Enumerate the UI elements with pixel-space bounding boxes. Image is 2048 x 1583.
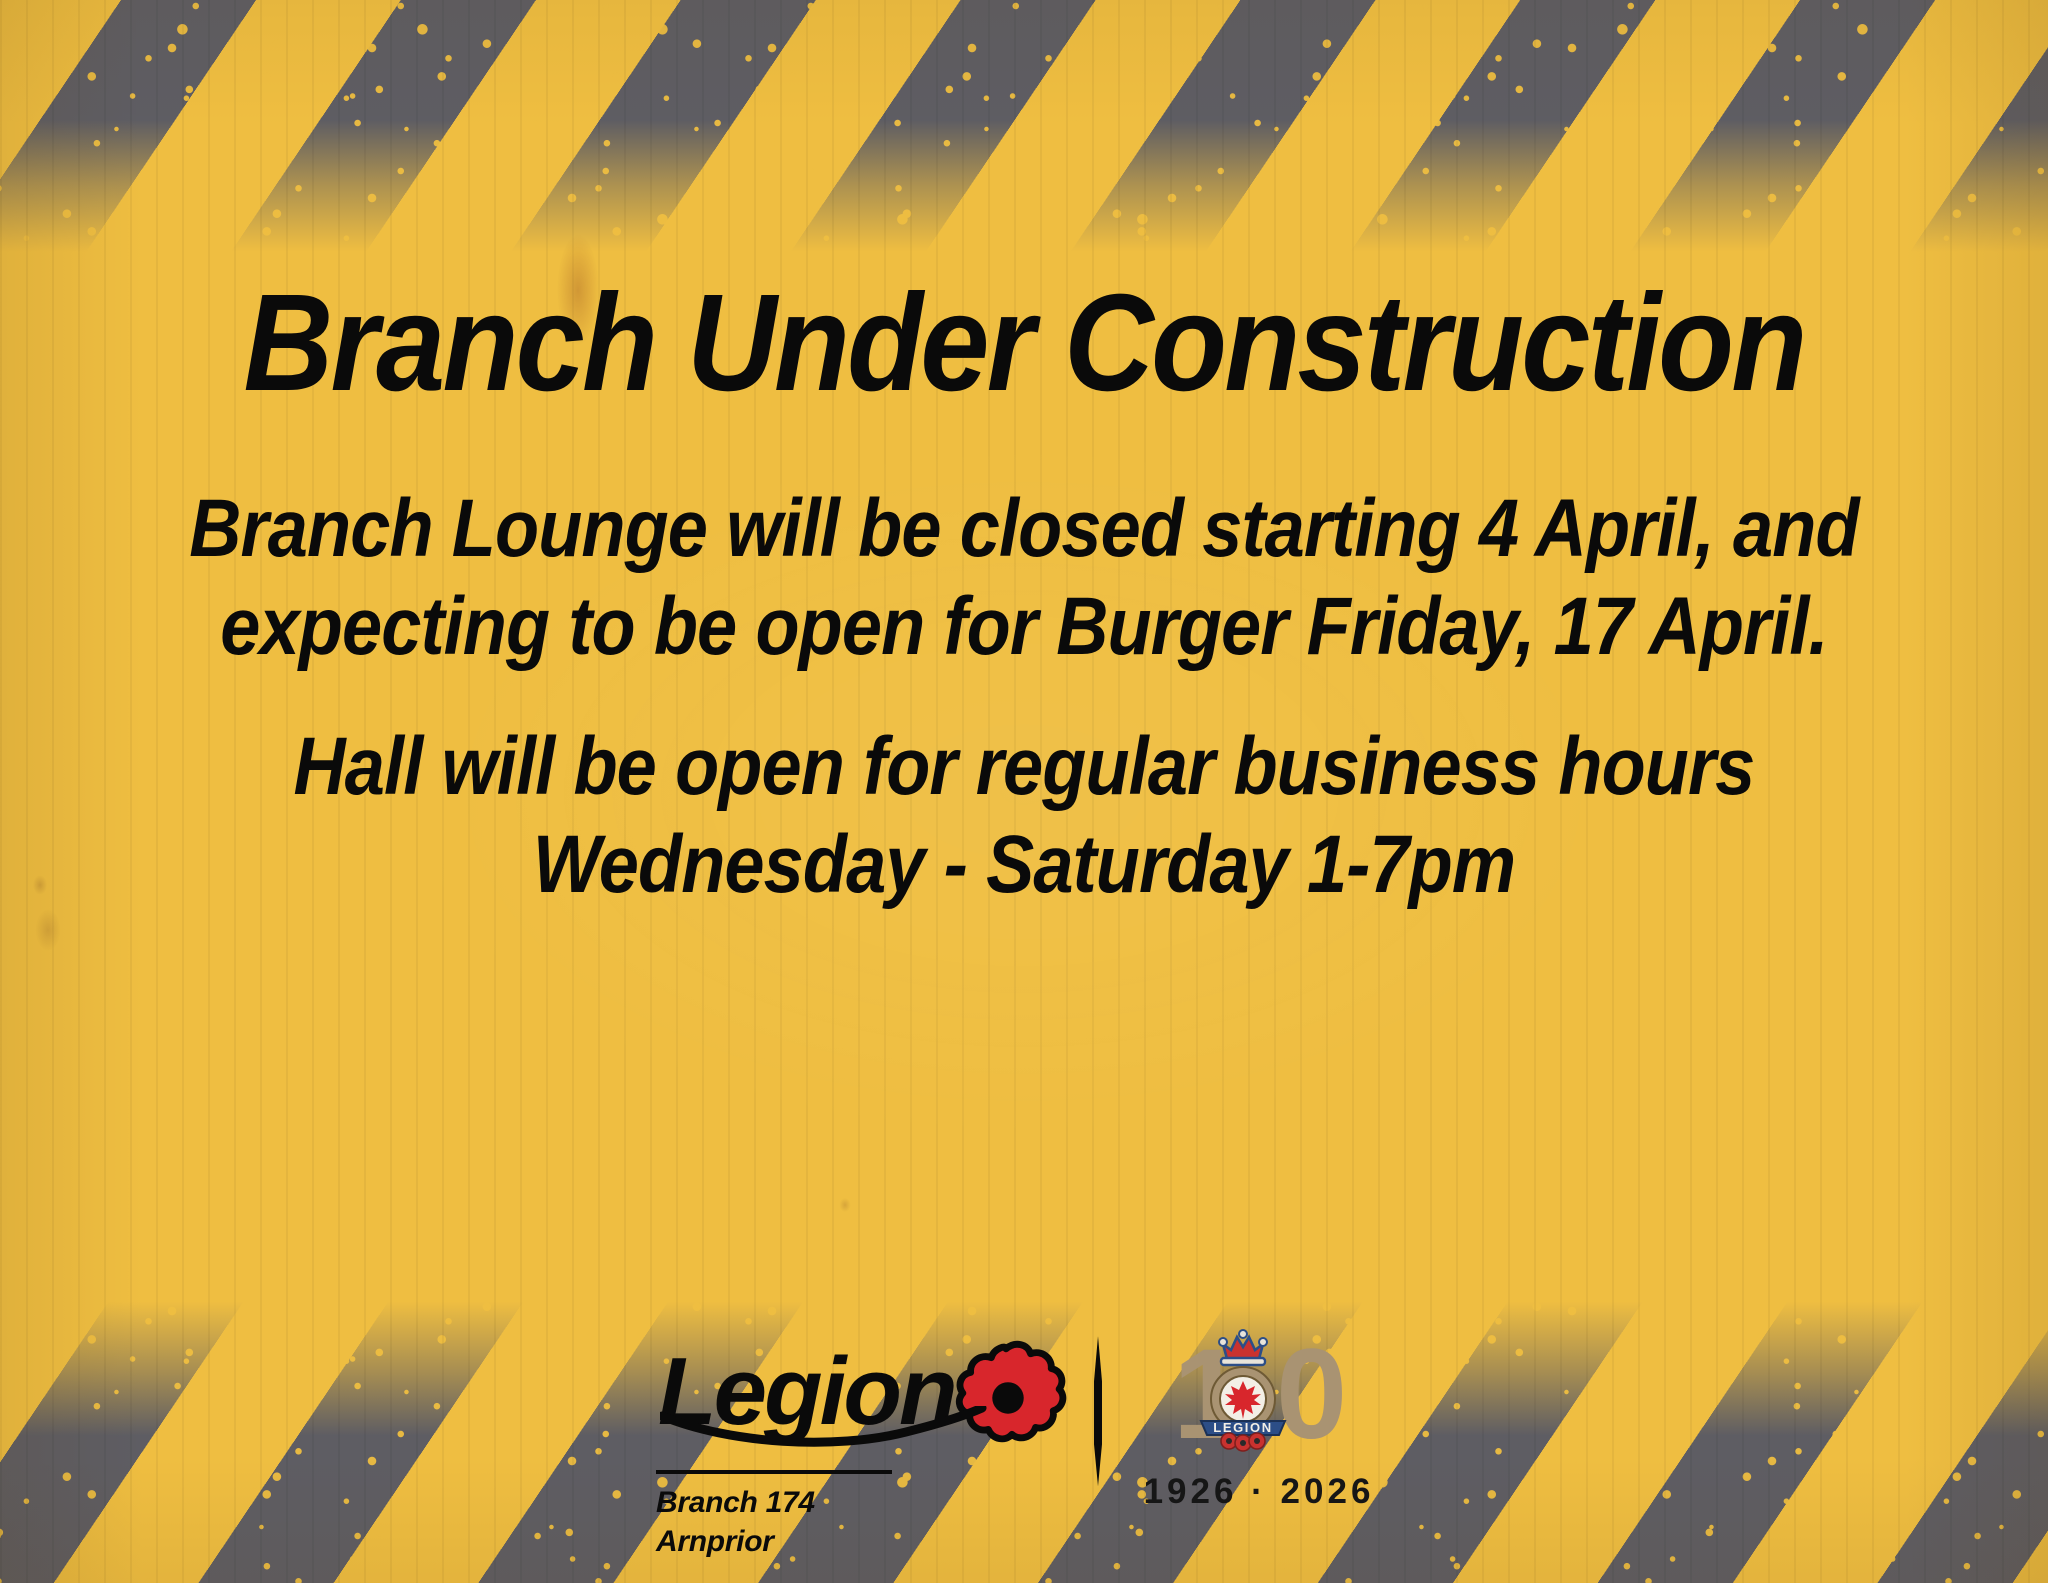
page-title: Branch Under Construction	[102, 272, 1945, 416]
anniversary-100: 1 0	[1124, 1326, 1394, 1464]
vertical-divider-line	[1094, 1336, 1102, 1486]
logo-lockup: Legion	[0, 1332, 2048, 1561]
svg-text:LEGION: LEGION	[1213, 1420, 1272, 1435]
announcement-line: expecting to be open for Burger Friday, …	[123, 578, 1925, 676]
announcement-paragraph-1: Branch Lounge will be closed starting 4 …	[123, 480, 1925, 677]
anniversary-badge: 1 0	[1124, 1326, 1394, 1512]
legion-logo: Legion	[654, 1332, 1084, 1561]
legion-wordmark-row: Legion	[658, 1332, 1067, 1460]
branch-number: Branch 174	[656, 1484, 815, 1522]
anniversary-years: 1926 · 2026	[1144, 1472, 1375, 1512]
announcement-line: Branch Lounge will be closed starting 4 …	[123, 480, 1925, 578]
logo-divider-rule	[656, 1470, 892, 1474]
poster-content: Branch Under Construction Branch Lounge …	[0, 0, 2048, 1583]
branch-city: Arnprior	[656, 1523, 815, 1561]
announcement-line: Hall will be open for regular business h…	[123, 718, 1925, 816]
branch-identifier: Branch 174 Arnprior	[656, 1484, 815, 1561]
announcement-line: Wednesday - Saturday 1-7pm	[123, 816, 1925, 914]
legion-swoosh-icon	[660, 1406, 990, 1446]
poster: Branch Under Construction Branch Lounge …	[0, 0, 2048, 1583]
announcement-paragraph-2: Hall will be open for regular business h…	[123, 718, 1925, 915]
legion-crest-icon: LEGION	[1187, 1329, 1299, 1461]
